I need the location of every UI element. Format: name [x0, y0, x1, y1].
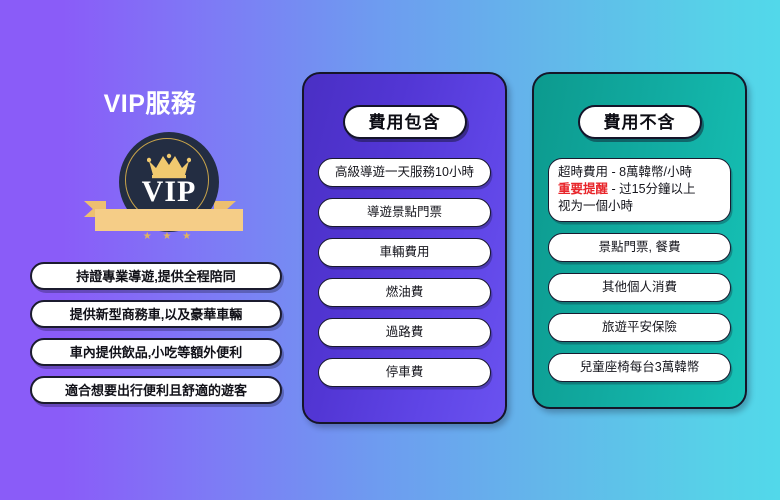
item-label: 兒童座椅每台3萬韓幣 [580, 361, 699, 374]
list-item[interactable]: 景點門票, 餐費 [548, 233, 731, 262]
badge-stars: ★ ★ ★ [119, 232, 219, 242]
list-item[interactable]: 旅遊平安保險 [548, 313, 731, 342]
note-line-1: 超時費用 - 8萬韓幣/小時 [558, 164, 721, 181]
feature-list: 持證專業導遊,提供全程陪同 提供新型商務車,以及豪華車輛 車內提供飲品,小吃等額… [30, 262, 282, 414]
item-label: 其他個人消費 [602, 281, 677, 294]
list-item[interactable]: 高級導遊一天服務10小時 [318, 158, 491, 187]
list-item[interactable]: 其他個人消費 [548, 273, 731, 302]
card-included-title: 費用包含 [343, 105, 467, 139]
note-line-3: 视为一個小時 [558, 198, 721, 215]
note-line-2-rest: - 过15分鐘以上 [608, 182, 696, 196]
list-item[interactable]: 兒童座椅每台3萬韓幣 [548, 353, 731, 382]
feature-label: 適合想要出行便利且舒適的遊客 [65, 384, 247, 397]
item-label: 旅遊平安保險 [602, 321, 677, 334]
item-label: 景點門票, 餐費 [599, 241, 681, 254]
list-item[interactable]: 導遊景點門票 [318, 198, 491, 227]
card-title-label: 費用不含 [604, 114, 676, 131]
list-item[interactable]: 過路費 [318, 318, 491, 347]
card-title-label: 費用包含 [369, 114, 441, 131]
card-included: 費用包含 高級導遊一天服務10小時 導遊景點門票 車輛費用 燃油費 過路費 停車… [302, 72, 507, 424]
item-label: 車輛費用 [379, 246, 429, 259]
badge-vip-text: VIP [119, 177, 219, 207]
feature-label: 提供新型商務車,以及豪華車輛 [70, 308, 243, 321]
list-item[interactable]: 提供新型商務車,以及豪華車輛 [30, 300, 282, 328]
badge-ribbon [95, 209, 243, 231]
vip-service-poster: VIP服務 VIP ★ ★ ★ 持證專業導遊,提供全程陪同 提供新型商務車, [0, 0, 780, 500]
item-label: 燃油費 [386, 286, 424, 299]
feature-label: 持證專業導遊,提供全程陪同 [76, 270, 236, 283]
feature-label: 車內提供飲品,小吃等額外便利 [70, 346, 243, 359]
left-column: VIP服務 VIP ★ ★ ★ 持證專業導遊,提供全程陪同 提供新型商務車, [0, 0, 300, 500]
card-excluded-list: 超時費用 - 8萬韓幣/小時 重要提醒 - 过15分鐘以上 视为一個小時 景點門… [548, 158, 731, 393]
item-label: 高級導遊一天服務10小時 [335, 166, 474, 179]
list-item[interactable]: 燃油費 [318, 278, 491, 307]
list-item[interactable]: 適合想要出行便利且舒適的遊客 [30, 376, 282, 404]
overtime-note[interactable]: 超時費用 - 8萬韓幣/小時 重要提醒 - 过15分鐘以上 视为一個小時 [548, 158, 731, 222]
item-label: 導遊景點門票 [367, 206, 442, 219]
list-item[interactable]: 車內提供飲品,小吃等額外便利 [30, 338, 282, 366]
page-title: VIP服務 [0, 92, 300, 117]
list-item[interactable]: 停車費 [318, 358, 491, 387]
item-label: 過路費 [386, 326, 424, 339]
card-excluded: 費用不含 超時費用 - 8萬韓幣/小時 重要提醒 - 过15分鐘以上 视为一個小… [532, 72, 747, 409]
list-item[interactable]: 車輛費用 [318, 238, 491, 267]
note-emphasis: 重要提醒 [558, 182, 608, 196]
card-excluded-title: 費用不含 [578, 105, 702, 139]
item-label: 停車費 [386, 366, 424, 379]
note-line-2: 重要提醒 - 过15分鐘以上 [558, 181, 721, 198]
list-item[interactable]: 持證專業導遊,提供全程陪同 [30, 262, 282, 290]
vip-badge: VIP ★ ★ ★ [74, 132, 246, 250]
card-included-list: 高級導遊一天服務10小時 導遊景點門票 車輛費用 燃油費 過路費 停車費 [318, 158, 491, 398]
